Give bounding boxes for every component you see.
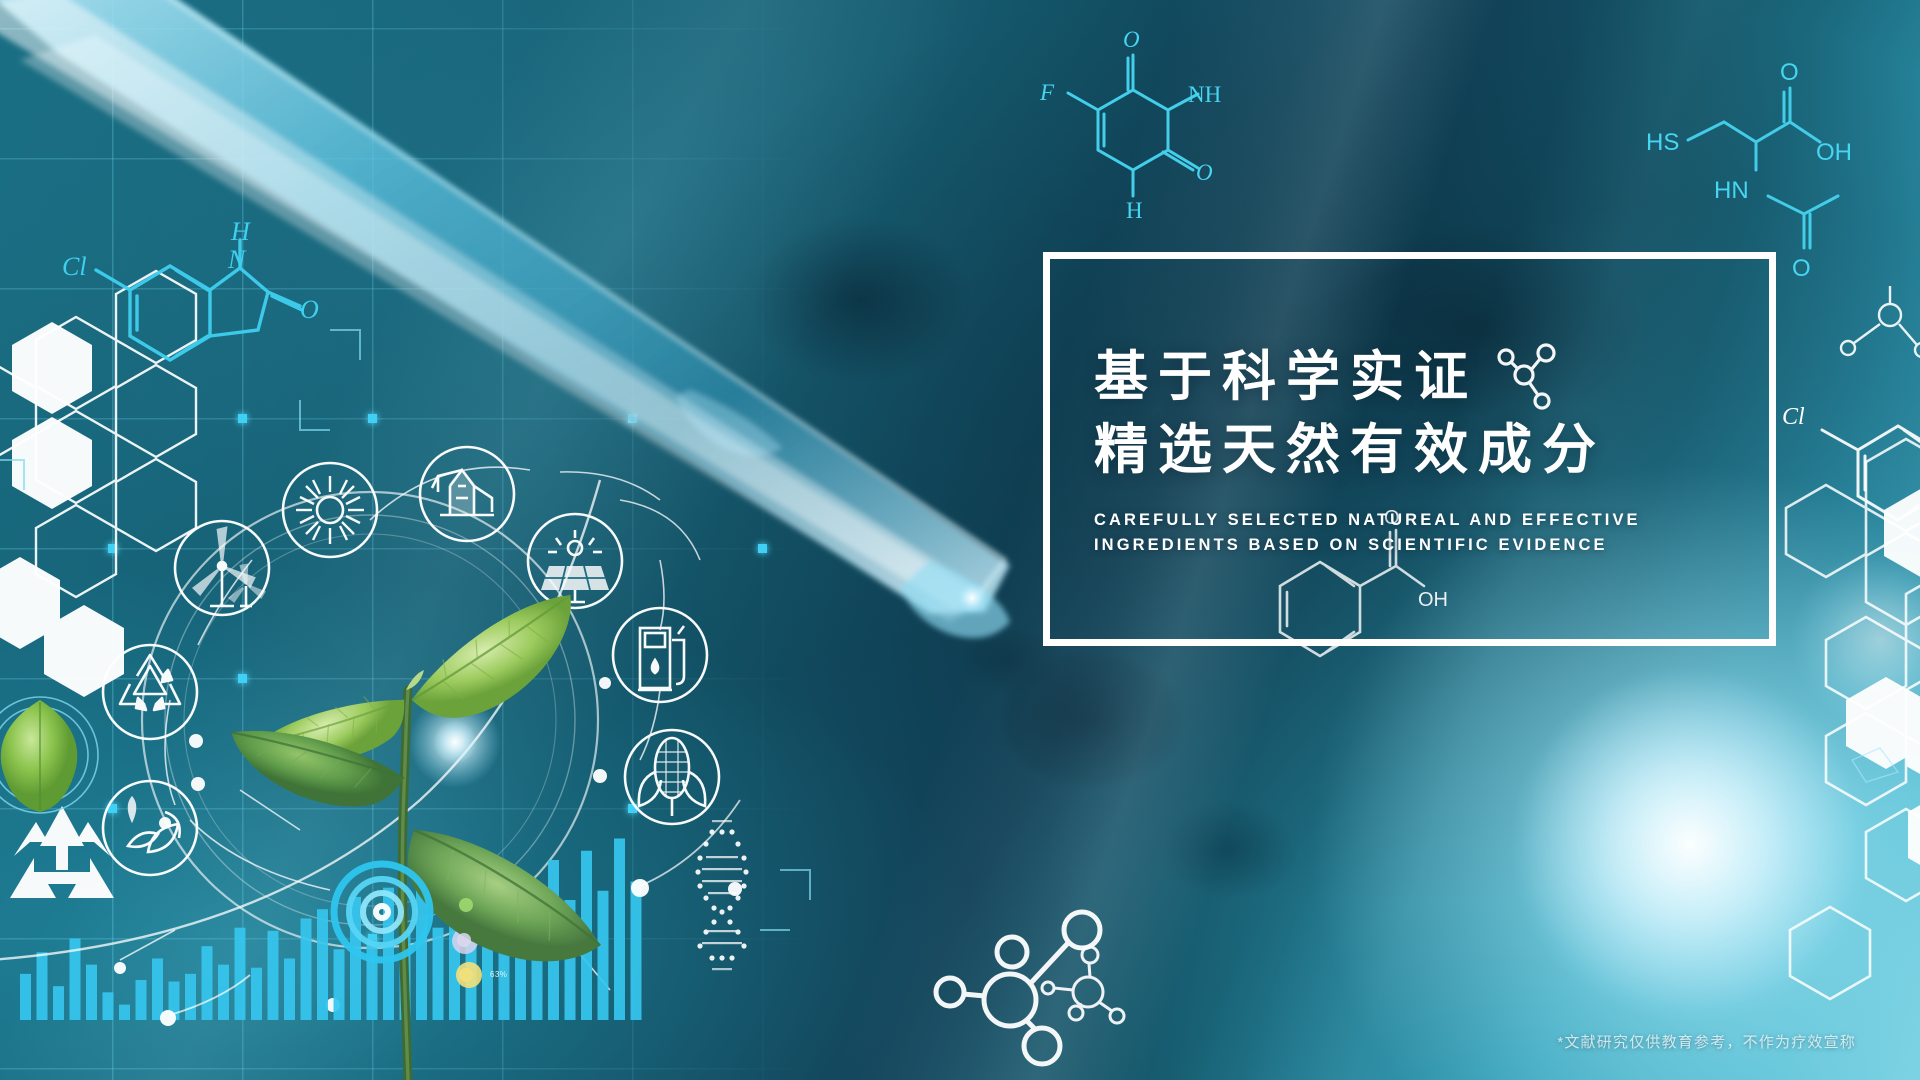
headline-line-1: 基于科学实证 (1094, 342, 1478, 412)
molecule-icon (1484, 335, 1564, 415)
disclaimer-text: *文献研究仅供教育参考，不作为疗效宣称 (1557, 1031, 1856, 1052)
headline-frame: 基于科学实证 精选天然有效成分 CAREFULLY SELECTED NATU (1043, 252, 1776, 646)
headline-content: 基于科学实证 精选天然有效成分 CAREFULLY SELECTED NATU (1050, 259, 1769, 639)
subtitle-line-1: CAREFULLY SELECTED NATUREAL AND EFFECTIV… (1094, 508, 1769, 534)
subtitle-line-2: INGREDIENTS BASED ON SCIENTIFIC EVIDENCE (1094, 533, 1769, 559)
headline-subtitle: CAREFULLY SELECTED NATUREAL AND EFFECTIV… (1094, 508, 1769, 559)
headline-line-1-row: 基于科学实证 (1094, 339, 1769, 415)
headline-line-2: 精选天然有效成分 (1094, 415, 1769, 485)
banner-root: F O NH O H HS O OH HN O (0, 0, 1920, 1080)
